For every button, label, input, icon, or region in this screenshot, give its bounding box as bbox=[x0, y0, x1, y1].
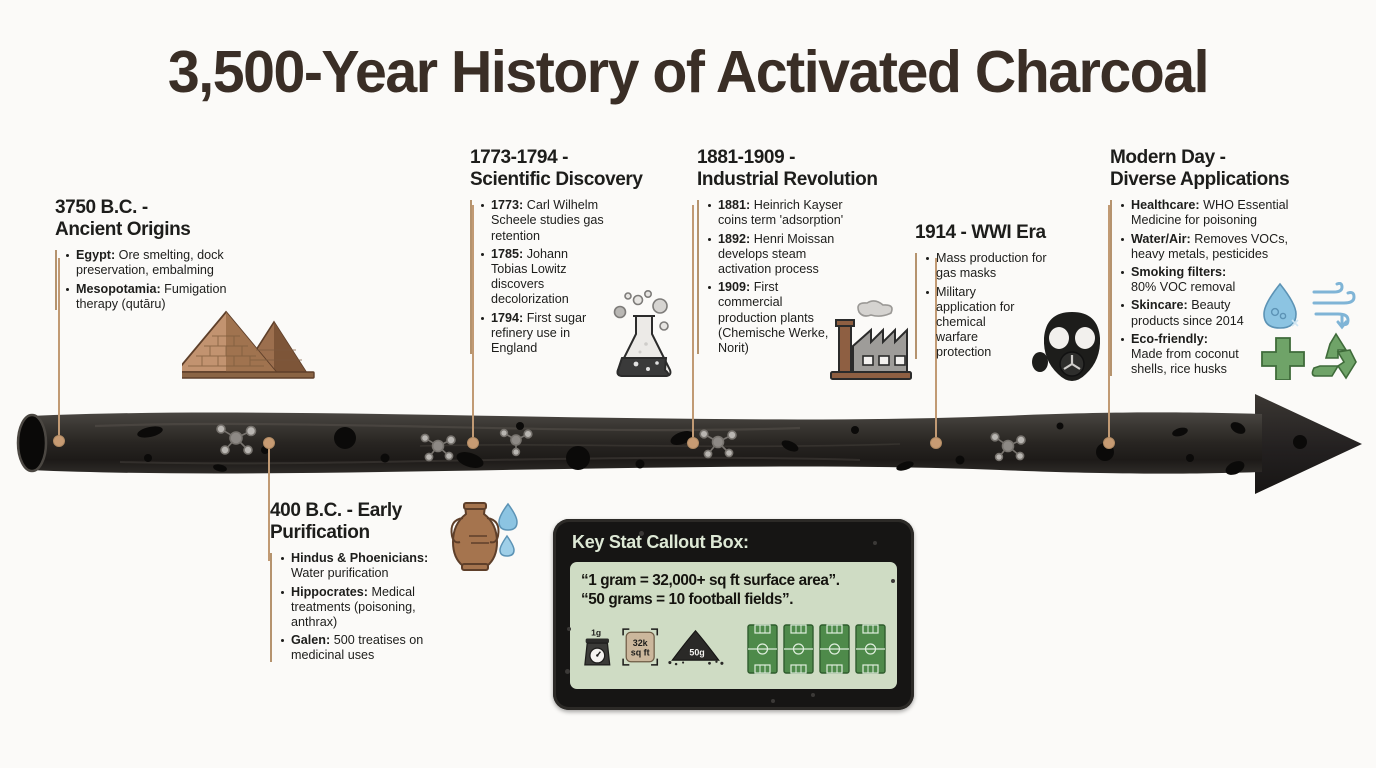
entry-rule bbox=[55, 250, 57, 310]
callout-quote-line2: “50 grams = 10 football fields”. bbox=[581, 590, 886, 609]
gas-mask-icon bbox=[1030, 308, 1114, 388]
page-title: 3,500-Year History of Activated Charcoal bbox=[21, 38, 1356, 106]
callout-icon-row: 1g 32k sq ft bbox=[581, 618, 886, 674]
entry-heading-1881-1909: 1881-1909 - Industrial Revolution bbox=[697, 147, 897, 191]
entry-rule bbox=[270, 553, 272, 662]
entry-rule bbox=[1110, 200, 1112, 376]
list-item: Egypt: Ore smelting, dock preservation, … bbox=[65, 248, 245, 278]
list-item: Hindus & Phoenicians: Water purification bbox=[280, 551, 442, 581]
surface-label-1: 32k bbox=[632, 638, 647, 648]
callout-panel: “1 gram = 32,000+ sq ft surface area”. “… bbox=[570, 562, 897, 689]
list-item: Mass production for gas masks bbox=[925, 251, 1047, 281]
connector-line-1881 bbox=[692, 205, 694, 442]
flask-icon bbox=[602, 286, 686, 380]
list-item: Skincare: Beauty products since 2014 bbox=[1120, 298, 1248, 328]
bullet-list-400-bc: Hindus & Phoenicians: Water purification… bbox=[280, 551, 450, 664]
connector-dot-modern bbox=[1103, 437, 1115, 449]
water-drop-icon bbox=[1264, 284, 1298, 328]
amphora-icon bbox=[443, 498, 519, 578]
bullet-list-3750-bc: Egypt: Ore smelting, dock preservation, … bbox=[65, 248, 245, 312]
list-item: Eco-friendly: Made from coconut shells, … bbox=[1120, 332, 1242, 378]
football-field-icon bbox=[783, 624, 814, 674]
callout-quote-line1: “1 gram = 32,000+ sq ft surface area”. bbox=[581, 571, 886, 590]
surface-area-icon: 32k sq ft bbox=[620, 620, 660, 674]
connector-dot-3750 bbox=[53, 435, 65, 447]
list-item: 1773: Carl Wilhelm Scheele studies gas r… bbox=[480, 198, 610, 244]
connector-dot-1914 bbox=[930, 437, 942, 449]
arrow-shaft bbox=[30, 412, 1262, 473]
list-item: Healthcare: WHO Essential Medicine for p… bbox=[1120, 198, 1312, 228]
connector-dot-400 bbox=[263, 437, 275, 449]
medical-cross-icon bbox=[1262, 338, 1304, 380]
list-item: 1794: First sugar refinery use in Englan… bbox=[480, 311, 598, 357]
list-item: Military application for chemical warfar… bbox=[925, 285, 1021, 361]
tube-open-end bbox=[18, 415, 46, 471]
list-item: Smoking filters: 80% VOC removal bbox=[1120, 265, 1244, 295]
wind-icon bbox=[1314, 283, 1354, 327]
kitchen-scale-icon: 1g bbox=[581, 620, 614, 674]
infographic-canvas: 3,500-Year History of Activated Charcoal bbox=[0, 0, 1376, 768]
connector-dot-1773 bbox=[467, 437, 479, 449]
football-field-icon bbox=[747, 624, 778, 674]
pyramids-icon bbox=[182, 306, 317, 384]
football-field-icon bbox=[855, 624, 886, 674]
modern-applications-icons bbox=[1258, 282, 1370, 380]
charcoal-pile-icon: 50g bbox=[666, 620, 725, 674]
list-item: Hippocrates: Medical treatments (poisoni… bbox=[280, 585, 430, 631]
scale-label: 1g bbox=[591, 627, 601, 637]
list-item: Water/Air: Removes VOCs, heavy metals, p… bbox=[1120, 232, 1312, 262]
pile-label: 50g bbox=[689, 647, 704, 657]
entry-heading-1773-1794: 1773-1794 - Scientific Discovery bbox=[470, 147, 666, 191]
recycle-icon bbox=[1312, 334, 1356, 378]
entry-heading-modern-day: Modern Day - Diverse Applications bbox=[1110, 147, 1312, 191]
football-fields-group bbox=[747, 624, 886, 674]
timeline-entry-3750-bc: 3750 B.C. - Ancient Origins Egypt: Ore s… bbox=[55, 197, 245, 315]
connector-dot-1881 bbox=[687, 437, 699, 449]
list-item: 1785: Johann Tobias Lowitz discovers dec… bbox=[480, 247, 598, 308]
list-item: Galen: 500 treatises on medicinal uses bbox=[280, 633, 438, 663]
factory-icon bbox=[825, 300, 915, 385]
entry-heading-3750-bc: 3750 B.C. - Ancient Origins bbox=[55, 197, 245, 241]
football-field-icon bbox=[819, 624, 850, 674]
water-droplet-icon bbox=[499, 504, 517, 556]
entry-rule bbox=[697, 200, 699, 354]
list-item: 1892: Henri Moissan develops steam activ… bbox=[707, 232, 847, 278]
surface-label-2: sq ft bbox=[630, 647, 649, 657]
list-item: 1909: First commercial production plants… bbox=[707, 280, 831, 356]
entry-heading-1914: 1914 - WWI Era bbox=[915, 222, 1063, 244]
entry-heading-400-bc: 400 B.C. - Early Purification bbox=[270, 500, 450, 544]
callout-title: Key Stat Callout Box: bbox=[572, 532, 897, 553]
entry-rule bbox=[470, 200, 472, 354]
list-item: 1881: Heinrich Kayser coins term 'adsorp… bbox=[707, 198, 859, 228]
entry-rule bbox=[915, 253, 917, 359]
key-stat-callout-box: Key Stat Callout Box: “1 gram = 32,000+ … bbox=[553, 519, 914, 710]
timeline-entry-400-bc: 400 B.C. - Early Purification Hindus & P… bbox=[270, 500, 450, 667]
